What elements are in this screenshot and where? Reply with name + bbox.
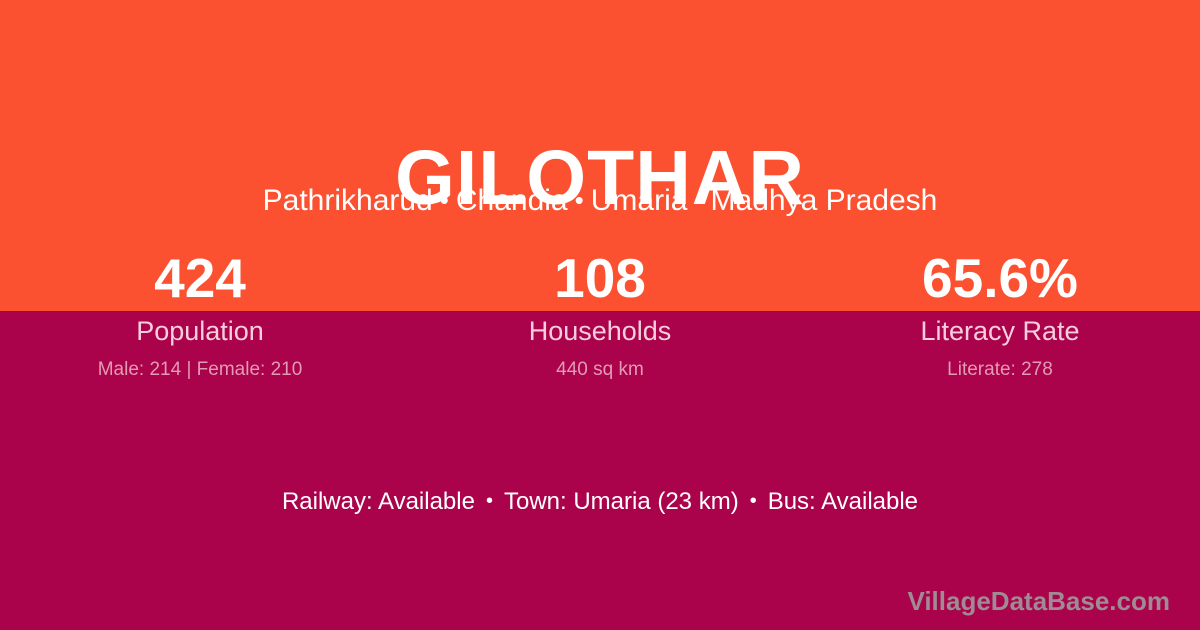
stat-literacy-value: 65.6% (800, 245, 1200, 311)
stat-literacy-label: Literacy Rate (800, 314, 1200, 348)
breadcrumb-item-block: Chandia (456, 184, 568, 217)
stat-households: 108 Households 440 sq km (400, 245, 800, 383)
transport-separator: • (475, 490, 504, 512)
stat-households-value: 108 (400, 245, 800, 311)
site-brand: VillageDataBase.com (907, 585, 1170, 617)
transport-bus: Bus: Available (768, 488, 918, 515)
stat-population: 424 Population Male: 214 | Female: 210 (0, 245, 400, 383)
transport-town: Town: Umaria (23 km) (504, 488, 739, 515)
stat-literacy: 65.6% Literacy Rate Literate: 278 (800, 245, 1200, 383)
transport-info: Railway: Available•Town: Umaria (23 km)•… (0, 486, 1200, 517)
breadcrumb: Pathrikharud•Chandia•Umaria•Madhya Prade… (0, 180, 1200, 221)
stat-literacy-count: Literate: 278 (800, 357, 1200, 383)
stat-households-area: 440 sq km (400, 357, 800, 383)
stat-households-label: Households (400, 314, 800, 348)
breadcrumb-item-village: Pathrikharud (263, 184, 433, 217)
stat-population-value: 424 (0, 245, 400, 311)
stats-row: 424 Population Male: 214 | Female: 210 1… (0, 245, 1200, 383)
breadcrumb-item-district: Umaria (591, 184, 688, 217)
breadcrumb-separator: • (568, 185, 591, 215)
breadcrumb-separator: • (687, 185, 710, 215)
stat-population-breakdown: Male: 214 | Female: 210 (0, 357, 400, 383)
village-info-card: GILOTHAR Pathrikharud•Chandia•Umaria•Mad… (0, 0, 1200, 630)
stat-population-label: Population (0, 314, 400, 348)
breadcrumb-item-state: Madhya Pradesh (711, 184, 938, 217)
transport-separator: • (739, 490, 768, 512)
breadcrumb-separator: • (433, 185, 456, 215)
transport-railway: Railway: Available (282, 488, 475, 515)
